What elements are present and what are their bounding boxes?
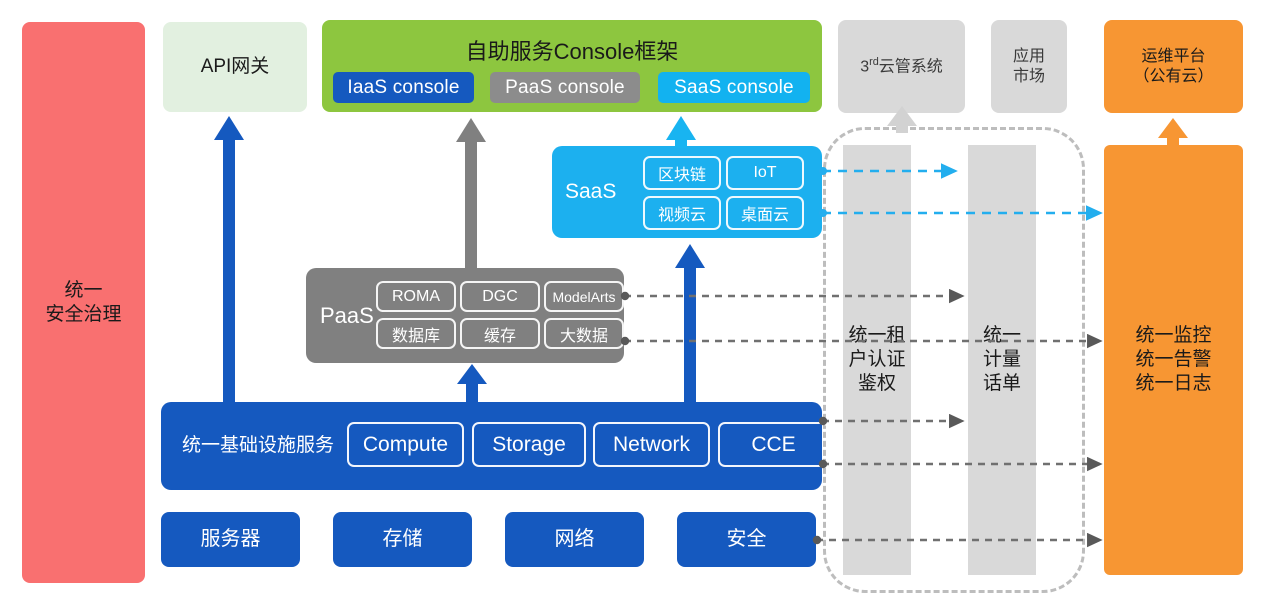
ops-platform-top-box[interactable]: 运维平台 （公有云） xyxy=(1104,20,1243,113)
paas-item-database-label: 数据库 xyxy=(392,322,440,346)
unified-billing-column: 统一 计量 话单 xyxy=(968,145,1036,575)
paas-item-cache[interactable]: 缓存 xyxy=(460,318,540,349)
auth-line3: 鉴权 xyxy=(858,372,896,396)
infra-item-network-label: Network xyxy=(613,433,690,457)
resource-tile-network-label: 网络 xyxy=(555,527,595,552)
infra-item-cce-label: CCE xyxy=(751,433,795,457)
paas-item-modelarts[interactable]: ModelArts xyxy=(544,281,624,312)
saas-label: SaaS xyxy=(565,180,616,204)
resource-tile-security-label: 安全 xyxy=(727,527,767,552)
arrow-saas-to-saas-console xyxy=(666,116,696,148)
third-party-sup: rd xyxy=(869,56,879,68)
saas-item-iot-label: IoT xyxy=(753,164,776,182)
paas-item-bigdata-label: 大数据 xyxy=(560,322,608,346)
arrow-infra-to-api-gateway xyxy=(214,116,244,402)
security-governance-line2: 安全治理 xyxy=(45,303,121,327)
saas-item-blockchain[interactable]: 区块链 xyxy=(643,156,721,190)
ops-right-line3: 统一日志 xyxy=(1135,372,1211,396)
third-party-suffix: 云管系统 xyxy=(879,58,943,75)
api-gateway-box[interactable]: API网关 xyxy=(163,22,307,112)
infrastructure-panel: 统一基础设施服务 Compute Storage Network CCE xyxy=(161,402,822,490)
infra-item-network[interactable]: Network xyxy=(593,422,710,467)
infra-item-storage-label: Storage xyxy=(492,433,566,457)
paas-panel: PaaS ROMA DGC ModelArts 数据库 缓存 大数据 xyxy=(306,268,624,363)
arrow-paas-to-console xyxy=(456,118,486,268)
paas-item-cache-label: 缓存 xyxy=(484,322,516,346)
console-framework-title: 自助服务Console框架 xyxy=(322,34,822,66)
infra-item-compute-label: Compute xyxy=(363,433,448,457)
security-governance-line1: 统一 xyxy=(64,279,102,303)
paas-console-pill[interactable]: PaaS console xyxy=(490,72,640,103)
paas-console-label: PaaS console xyxy=(505,77,625,99)
infra-item-storage[interactable]: Storage xyxy=(472,422,586,467)
resource-tile-storage[interactable]: 存储 xyxy=(333,512,472,567)
billing-line3: 话单 xyxy=(983,372,1021,396)
ops-platform-top-line2: （公有云） xyxy=(1133,67,1213,87)
resource-tile-storage-label: 存储 xyxy=(383,527,423,552)
arrow-ops-right-to-ops-top xyxy=(1158,118,1188,145)
resource-tile-security[interactable]: 安全 xyxy=(677,512,816,567)
ops-right-line2: 统一告警 xyxy=(1135,348,1211,372)
saas-console-label: SaaS console xyxy=(674,77,794,99)
billing-line2: 计量 xyxy=(983,348,1021,372)
architecture-diagram: 统一 安全治理 API网关 自助服务Console框架 IaaS console… xyxy=(0,0,1265,605)
paas-item-dgc-label: DGC xyxy=(482,288,518,306)
console-framework-panel: 自助服务Console框架 IaaS console PaaS console … xyxy=(322,20,822,112)
third-party-prefix: 3 xyxy=(860,58,869,75)
paas-item-database[interactable]: 数据库 xyxy=(376,318,456,349)
saas-item-blockchain-label: 区块链 xyxy=(658,161,706,185)
saas-console-pill[interactable]: SaaS console xyxy=(658,72,810,103)
ops-platform-right-panel: 统一监控 统一告警 统一日志 xyxy=(1104,145,1243,575)
infra-item-cce[interactable]: CCE xyxy=(718,422,829,467)
arrow-infra-to-saas xyxy=(675,244,705,402)
infrastructure-label: 统一基础设施服务 xyxy=(182,430,334,457)
paas-item-dgc[interactable]: DGC xyxy=(460,281,540,312)
resource-tile-server[interactable]: 服务器 xyxy=(161,512,300,567)
paas-item-modelarts-label: ModelArts xyxy=(552,289,615,305)
saas-item-desktop-cloud-label: 桌面云 xyxy=(741,201,789,225)
arrow-infra-to-paas xyxy=(457,364,487,402)
paas-label: PaaS xyxy=(320,303,374,329)
security-governance-panel: 统一 安全治理 xyxy=(22,22,145,583)
paas-item-bigdata[interactable]: 大数据 xyxy=(544,318,624,349)
auth-line1: 统一租 xyxy=(848,324,905,348)
iaas-console-pill[interactable]: IaaS console xyxy=(333,72,474,103)
auth-line2: 户认证 xyxy=(848,348,905,372)
infra-item-compute[interactable]: Compute xyxy=(347,422,464,467)
paas-item-roma-label: ROMA xyxy=(392,288,440,306)
paas-item-roma[interactable]: ROMA xyxy=(376,281,456,312)
saas-item-iot[interactable]: IoT xyxy=(726,156,804,190)
app-market-box[interactable]: 应用 市场 xyxy=(991,20,1067,113)
api-gateway-label: API网关 xyxy=(201,55,270,79)
ops-right-line1: 统一监控 xyxy=(1135,324,1211,348)
iaas-console-label: IaaS console xyxy=(347,77,459,99)
saas-item-video-cloud-label: 视频云 xyxy=(658,201,706,225)
app-market-line1: 应用 xyxy=(1013,47,1045,67)
resource-tile-network[interactable]: 网络 xyxy=(505,512,644,567)
billing-line1: 统一 xyxy=(983,324,1021,348)
saas-item-desktop-cloud[interactable]: 桌面云 xyxy=(726,196,804,230)
ops-platform-top-line1: 运维平台 xyxy=(1141,47,1205,67)
third-party-cloud-mgmt-box[interactable]: 3rd云管系统 xyxy=(838,20,965,113)
third-party-cloud-mgmt-label: 3rd云管系统 xyxy=(860,56,943,77)
unified-tenant-auth-column: 统一租 户认证 鉴权 xyxy=(843,145,911,575)
saas-item-video-cloud[interactable]: 视频云 xyxy=(643,196,721,230)
saas-panel: SaaS 区块链 IoT 视频云 桌面云 xyxy=(552,146,822,238)
app-market-line2: 市场 xyxy=(1013,67,1045,87)
resource-tile-server-label: 服务器 xyxy=(201,527,261,552)
